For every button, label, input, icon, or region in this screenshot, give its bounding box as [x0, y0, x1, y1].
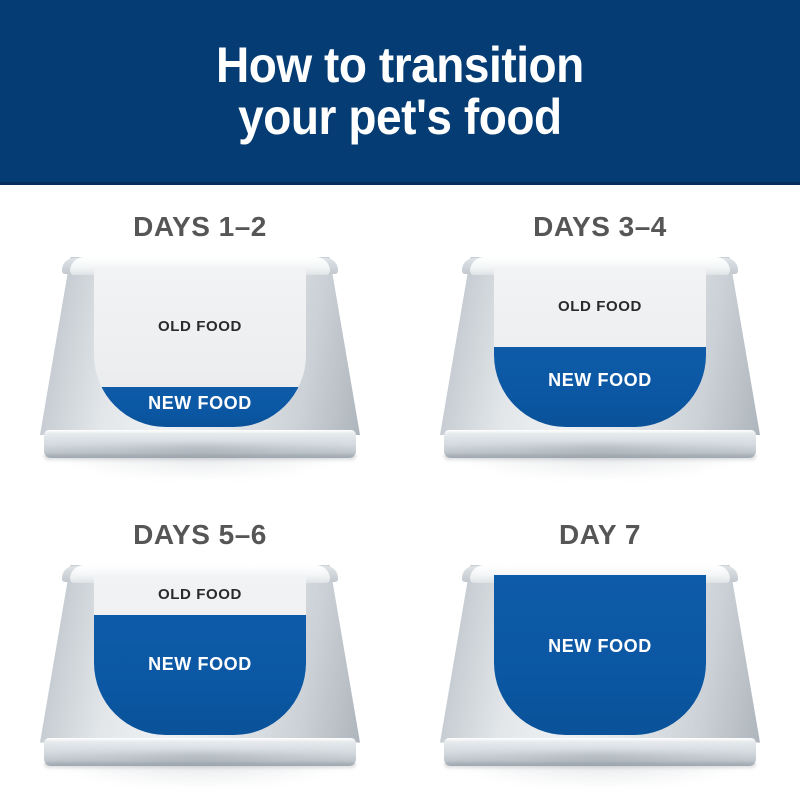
new-food-fill	[94, 387, 306, 427]
food-bowl-days-1-2: OLD FOOD NEW FOOD	[40, 257, 360, 462]
transition-steps-grid: DAYS 1–2 OLD FOOD NEW FOOD DAYS 3–4	[0, 185, 800, 800]
step-label-days-5-6: DAYS 5–6	[133, 519, 267, 551]
bowl-base-shadow	[44, 455, 356, 462]
bowl-base	[44, 430, 356, 458]
step-card-days-3-4: DAYS 3–4 OLD FOOD NEW FOOD	[400, 185, 800, 493]
bowl-base	[44, 738, 356, 766]
bowl-base-shadow	[444, 763, 756, 770]
step-card-days-5-6: DAYS 5–6 OLD FOOD NEW FOOD	[0, 493, 400, 800]
step-card-days-1-2: DAYS 1–2 OLD FOOD NEW FOOD	[0, 185, 400, 493]
bowl-cavity: NEW FOOD	[494, 575, 706, 735]
step-label-days-3-4: DAYS 3–4	[533, 211, 667, 243]
food-bowl-days-3-4: OLD FOOD NEW FOOD	[440, 257, 760, 462]
new-food-fill	[494, 575, 706, 735]
food-bowl-days-5-6: OLD FOOD NEW FOOD	[40, 565, 360, 770]
bowl-base-shadow	[44, 763, 356, 770]
bowl-cavity: OLD FOOD NEW FOOD	[94, 267, 306, 427]
bowl-cavity: OLD FOOD NEW FOOD	[94, 575, 306, 735]
new-food-fill	[94, 615, 306, 735]
bowl-base-shadow	[444, 455, 756, 462]
step-label-day-7: DAY 7	[559, 519, 641, 551]
food-bowl-day-7: NEW FOOD	[440, 565, 760, 770]
page-title: How to transition your pet's food	[179, 39, 620, 143]
step-card-day-7: DAY 7 NEW FOOD	[400, 493, 800, 800]
bowl-base	[444, 430, 756, 458]
bowl-base	[444, 738, 756, 766]
header-banner: How to transition your pet's food	[0, 0, 800, 185]
new-food-fill	[494, 347, 706, 427]
step-label-days-1-2: DAYS 1–2	[133, 211, 267, 243]
bowl-cavity: OLD FOOD NEW FOOD	[494, 267, 706, 427]
